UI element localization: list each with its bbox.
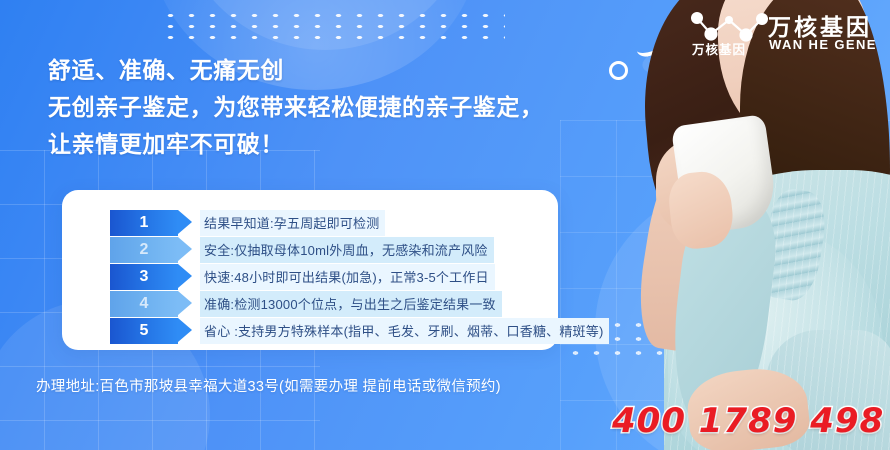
feature-number: 3 xyxy=(110,264,178,290)
list-item: 5 省心 :支持男方特殊样本(指甲、毛发、牙刷、烟蒂、口香糖、精斑等) xyxy=(110,318,609,344)
features-list: 1 结果早知道:孕五周起即可检测 2 安全:仅抽取母体10ml外周血，无感染和流… xyxy=(110,210,609,345)
pregnant-woman-photo xyxy=(590,0,890,450)
logo-name-cn-small: 万核基因 xyxy=(692,39,746,58)
headline-line-2: 无创亲子鉴定，为您带来轻松便捷的亲子鉴定， xyxy=(48,89,544,126)
headline-block: 舒适、准确、无痛无创 无创亲子鉴定，为您带来轻松便捷的亲子鉴定， 让亲情更加牢不… xyxy=(48,52,544,163)
feature-text: 结果早知道:孕五周起即可检测 xyxy=(200,210,385,236)
logo-name-en: WAN HE GENE xyxy=(769,37,877,52)
list-item: 2 安全:仅抽取母体10ml外周血，无感染和流产风险 xyxy=(110,237,609,263)
hotline-phone-number[interactable]: 400 1789 498 xyxy=(612,401,884,441)
feature-text: 准确:检测13000个位点，与出生之后鉴定结果一致 xyxy=(200,291,502,317)
list-item: 3 快速:48小时即可出结果(加急)，正常3-5个工作日 xyxy=(110,264,609,290)
feature-text: 省心 :支持男方特殊样本(指甲、毛发、牙刷、烟蒂、口香糖、精斑等) xyxy=(200,318,609,344)
feature-number: 4 xyxy=(110,291,178,317)
feature-text: 安全:仅抽取母体10ml外周血，无感染和流产风险 xyxy=(200,237,494,263)
brand-logo[interactable]: 万核基因 万核基因 WAN HE GENE xyxy=(684,6,884,62)
headline-line-1: 舒适、准确、无痛无创 xyxy=(48,52,544,89)
feature-number: 1 xyxy=(110,210,178,236)
list-item: 4 准确:检测13000个位点，与出生之后鉴定结果一致 xyxy=(110,291,609,317)
office-address: 办理地址:百色市那坡县幸福大道33号(如需要办理 提前电话或微信预约) xyxy=(36,375,501,396)
feature-number: 2 xyxy=(110,237,178,263)
dot-pattern-top xyxy=(160,10,505,40)
feature-text: 快速:48小时即可出结果(加急)，正常3-5个工作日 xyxy=(200,264,495,290)
list-item: 1 结果早知道:孕五周起即可检测 xyxy=(110,210,609,236)
promo-banner: 万核基因 万核基因 WAN HE GENE 舒适、准确、无痛无创 无创亲子鉴定，… xyxy=(0,0,890,450)
features-card: 1 结果早知道:孕五周起即可检测 2 安全:仅抽取母体10ml外周血，无感染和流… xyxy=(62,190,558,350)
feature-number: 5 xyxy=(110,318,178,344)
headline-line-3: 让亲情更加牢不可破！ xyxy=(48,126,544,163)
